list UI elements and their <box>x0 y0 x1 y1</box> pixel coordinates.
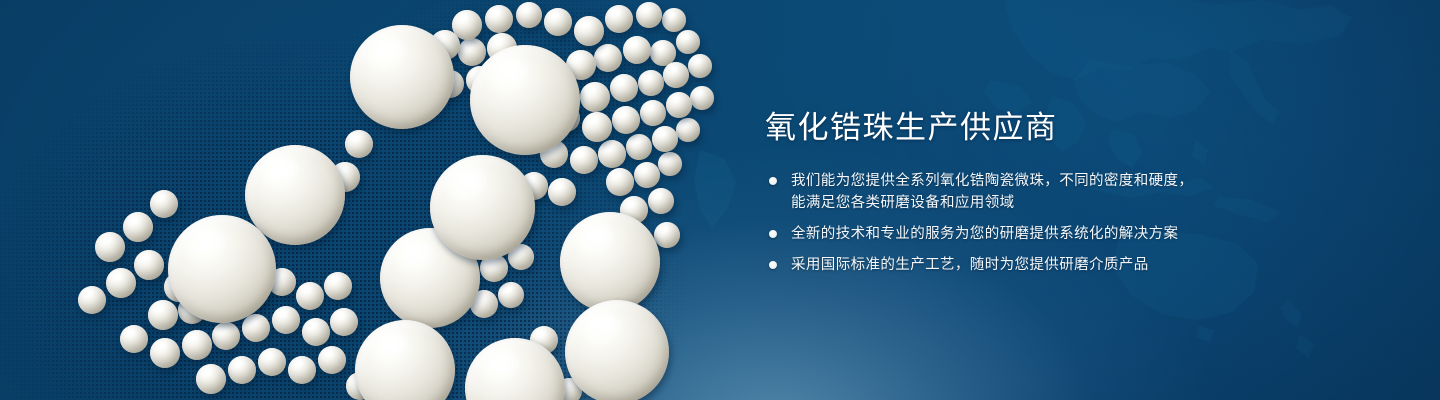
zirconia-bead <box>582 112 612 142</box>
bullet-text: 我们能为您提供全系列氧化锆陶瓷微珠，不同的密度和硬度， 能满足您各类研磨设备和应… <box>791 170 1365 214</box>
zirconia-bead <box>623 36 651 64</box>
zirconia-bead <box>168 215 276 323</box>
zirconia-bead <box>302 318 330 346</box>
zirconia-bead <box>324 272 352 300</box>
zirconia-bead <box>574 16 604 46</box>
zirconia-bead <box>662 8 686 32</box>
list-item: 全新的技术和专业的服务为您的研磨提供系统化的解决方案 <box>765 223 1365 245</box>
zirconia-bead <box>330 308 358 336</box>
zirconia-bead <box>350 25 454 129</box>
zirconia-bead <box>652 126 678 152</box>
zirconia-bead <box>272 306 300 334</box>
bullet-dot-icon <box>769 230 777 238</box>
zirconia-bead <box>638 70 664 96</box>
zirconia-bead <box>648 188 674 214</box>
zirconia-bead <box>676 30 700 54</box>
banner-copy: 氧化锆珠生产供应商 我们能为您提供全系列氧化锆陶瓷微珠，不同的密度和硬度， 能满… <box>765 108 1365 285</box>
bullet-text: 采用国际标准的生产工艺，随时为您提供研磨介质产品 <box>791 254 1365 276</box>
zirconia-bead <box>690 86 714 110</box>
zirconia-bead <box>663 62 689 88</box>
zirconia-bead <box>182 330 212 360</box>
banner-title: 氧化锆珠生产供应商 <box>765 108 1365 148</box>
bullet-line-primary: 全新的技术和专业的服务为您的研磨提供系统化的解决方案 <box>791 226 1178 242</box>
zirconia-bead <box>134 250 164 280</box>
zirconia-bead <box>470 45 580 155</box>
zirconia-bead <box>196 364 226 394</box>
zirconia-bead <box>606 168 634 196</box>
zirconia-bead-cluster-image <box>0 0 760 400</box>
zirconia-bead <box>485 5 513 33</box>
bullet-dot-icon <box>769 261 777 269</box>
zirconia-bead <box>560 212 660 312</box>
hero-banner: 氧化锆珠生产供应商 我们能为您提供全系列氧化锆陶瓷微珠，不同的密度和硬度， 能满… <box>0 0 1440 400</box>
zirconia-bead <box>123 212 153 242</box>
bullet-line-continued: 能满足您各类研磨设备和应用领域 <box>791 192 1365 214</box>
zirconia-bead <box>580 82 610 112</box>
zirconia-bead <box>212 322 240 350</box>
zirconia-bead <box>626 134 652 160</box>
list-item: 我们能为您提供全系列氧化锆陶瓷微珠，不同的密度和硬度， 能满足您各类研磨设备和应… <box>765 170 1365 214</box>
bullet-dot-icon <box>769 177 777 185</box>
zirconia-bead <box>516 2 542 28</box>
bullet-text: 全新的技术和专业的服务为您的研磨提供系统化的解决方案 <box>791 223 1365 245</box>
zirconia-bead <box>688 54 712 78</box>
zirconia-bead <box>150 338 180 368</box>
zirconia-bead <box>666 92 692 118</box>
zirconia-bead <box>636 2 662 28</box>
zirconia-bead <box>634 162 660 188</box>
zirconia-bead <box>150 190 178 218</box>
zirconia-bead <box>355 320 455 400</box>
zirconia-bead <box>676 118 700 142</box>
zirconia-bead <box>544 8 572 36</box>
zirconia-bead <box>95 232 125 262</box>
zirconia-bead <box>120 325 148 353</box>
zirconia-bead <box>658 152 682 176</box>
zirconia-bead <box>430 155 535 260</box>
zirconia-bead <box>598 140 626 168</box>
zirconia-bead <box>610 74 638 102</box>
zirconia-bead <box>605 5 633 33</box>
feature-bullet-list: 我们能为您提供全系列氧化锆陶瓷微珠，不同的密度和硬度， 能满足您各类研磨设备和应… <box>765 170 1365 276</box>
zirconia-bead <box>78 286 106 314</box>
zirconia-bead <box>228 356 256 384</box>
zirconia-bead <box>242 314 270 342</box>
zirconia-bead <box>296 282 324 310</box>
zirconia-bead <box>640 100 666 126</box>
zirconia-bead <box>288 356 316 384</box>
zirconia-bead <box>594 44 622 72</box>
zirconia-bead <box>458 38 486 66</box>
zirconia-bead <box>148 300 178 330</box>
zirconia-bead <box>570 146 598 174</box>
zirconia-bead <box>565 300 669 400</box>
bullet-line-primary: 采用国际标准的生产工艺，随时为您提供研磨介质产品 <box>791 257 1149 273</box>
zirconia-bead <box>345 130 373 158</box>
list-item: 采用国际标准的生产工艺，随时为您提供研磨介质产品 <box>765 254 1365 276</box>
zirconia-bead <box>106 268 136 298</box>
zirconia-bead <box>654 222 680 248</box>
zirconia-bead <box>498 282 524 308</box>
zirconia-bead <box>258 348 286 376</box>
zirconia-bead <box>318 346 346 374</box>
zirconia-bead <box>548 178 576 206</box>
bullet-line-primary: 我们能为您提供全系列氧化锆陶瓷微珠，不同的密度和硬度， <box>791 173 1193 189</box>
zirconia-bead <box>612 106 640 134</box>
